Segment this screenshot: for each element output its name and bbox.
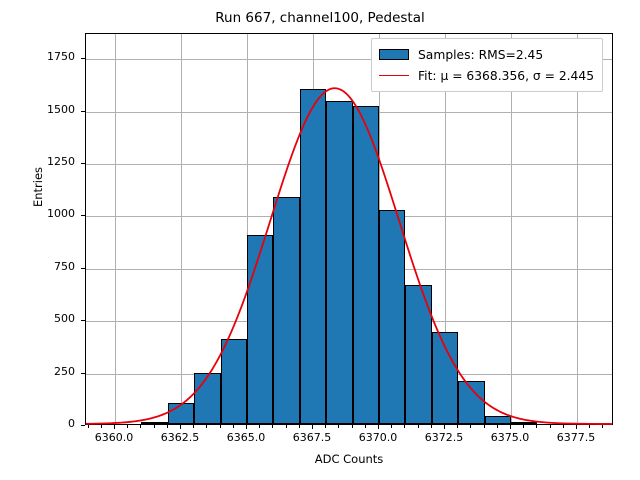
x-minor-tick: [550, 425, 551, 428]
x-tick-label: 6362.5: [150, 431, 210, 444]
x-minor-tick: [206, 425, 207, 428]
x-tick-label: 6365.0: [216, 431, 276, 444]
x-minor-tick: [484, 425, 485, 428]
x-tick-mark: [180, 425, 181, 429]
chart-title: Run 667, channel100, Pedestal: [0, 10, 640, 26]
x-minor-tick: [470, 425, 471, 428]
x-minor-tick: [101, 425, 102, 428]
x-minor-tick: [404, 425, 405, 428]
x-minor-tick: [523, 425, 524, 428]
x-minor-tick: [431, 425, 432, 428]
y-tick-label: 0: [15, 417, 75, 430]
x-minor-tick: [365, 425, 366, 428]
figure-canvas: Run 667, channel100, Pedestal 6360.06362…: [0, 0, 640, 480]
y-tick-label: 1750: [15, 50, 75, 63]
x-tick-mark: [444, 425, 445, 429]
legend-label-samples: Samples: RMS=2.45: [418, 48, 543, 62]
x-tick-mark: [114, 425, 115, 429]
x-minor-tick: [127, 425, 128, 428]
gaussian-fit-curve: [86, 34, 612, 424]
x-minor-tick: [167, 425, 168, 428]
y-axis-label: Entries: [31, 127, 45, 247]
x-tick-label: 6360.0: [84, 431, 144, 444]
x-tick-label: 6372.5: [414, 431, 474, 444]
x-minor-tick: [536, 425, 537, 428]
x-minor-tick: [325, 425, 326, 428]
x-tick-mark: [510, 425, 511, 429]
x-tick-mark: [378, 425, 379, 429]
x-tick-label: 6367.5: [282, 431, 342, 444]
y-tick-mark: [81, 320, 85, 321]
x-tick-mark: [576, 425, 577, 429]
x-minor-tick: [299, 425, 300, 428]
x-minor-tick: [338, 425, 339, 428]
y-tick-label: 1250: [15, 155, 75, 168]
legend-swatch-samples-icon: [379, 49, 409, 60]
y-tick-mark: [81, 58, 85, 59]
y-tick-mark: [81, 111, 85, 112]
y-tick-label: 500: [15, 312, 75, 325]
x-minor-tick: [154, 425, 155, 428]
x-minor-tick: [193, 425, 194, 428]
legend-item-fit: Fit: μ = 6368.356, σ = 2.445: [379, 65, 594, 86]
x-tick-label: 6375.0: [480, 431, 540, 444]
x-minor-tick: [418, 425, 419, 428]
x-tick-label: 6370.0: [348, 431, 408, 444]
legend-swatch-fit-icon: [379, 75, 409, 76]
x-minor-tick: [233, 425, 234, 428]
y-tick-mark: [81, 425, 85, 426]
x-minor-tick: [352, 425, 353, 428]
x-minor-tick: [220, 425, 221, 428]
y-tick-mark: [81, 268, 85, 269]
y-tick-label: 1500: [15, 103, 75, 116]
y-tick-label: 750: [15, 260, 75, 273]
legend-item-samples: Samples: RMS=2.45: [379, 44, 594, 65]
x-minor-tick: [286, 425, 287, 428]
y-tick-label: 250: [15, 365, 75, 378]
y-tick-mark: [81, 373, 85, 374]
x-minor-tick: [563, 425, 564, 428]
y-tick-mark: [81, 163, 85, 164]
x-minor-tick: [259, 425, 260, 428]
legend-label-fit: Fit: μ = 6368.356, σ = 2.445: [418, 69, 594, 83]
x-tick-mark: [312, 425, 313, 429]
x-axis-label: ADC Counts: [85, 452, 613, 466]
y-tick-mark: [81, 215, 85, 216]
x-minor-tick: [602, 425, 603, 428]
x-tick-mark: [246, 425, 247, 429]
y-tick-label: 1000: [15, 207, 75, 220]
x-minor-tick: [497, 425, 498, 428]
x-minor-tick: [140, 425, 141, 428]
x-minor-tick: [589, 425, 590, 428]
x-minor-tick: [88, 425, 89, 428]
x-tick-label: 6377.5: [546, 431, 606, 444]
x-minor-tick: [457, 425, 458, 428]
x-minor-tick: [272, 425, 273, 428]
x-minor-tick: [391, 425, 392, 428]
chart-legend: Samples: RMS=2.45 Fit: μ = 6368.356, σ =…: [371, 38, 603, 92]
